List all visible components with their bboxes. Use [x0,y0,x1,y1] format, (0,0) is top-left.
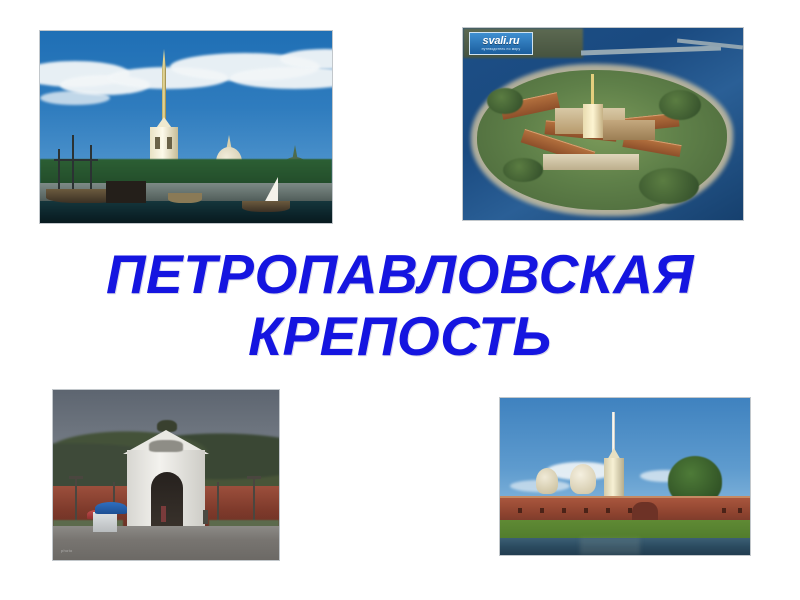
image-fortress-walls-from-water[interactable] [500,398,750,555]
wall-embrasure [606,508,610,513]
cloud-shape [40,91,110,105]
lamp-arm [69,476,83,479]
wall-embrasure [584,508,588,513]
watermark-label: svali.ru [483,36,520,47]
eagle-sculpture [157,420,177,432]
image-inner: svali.ru путеводитель по миру [463,28,743,220]
paved-road-layer [53,526,279,560]
gate-archway [151,472,183,532]
tree-cluster [639,168,699,204]
person-figure [161,506,166,522]
ship-mast [72,135,74,191]
image-peters-gate[interactable]: photo [53,390,279,560]
lamp-post [217,482,219,524]
side-dome-middle [570,464,596,494]
wall-embrasure [540,508,544,513]
wall-embrasure [518,508,522,513]
inner-buildings [603,120,655,140]
image-inner: photo [53,390,279,560]
slide-canvas: svali.ru путеводитель по миру ПЕТРОПАВЛО… [0,0,800,600]
ship-yard [54,159,98,161]
ship-mast [58,149,60,191]
wall-embrasure [562,508,566,513]
slide-title: ПЕТРОПАВЛОВСКАЯ КРЕПОСТЬ [0,243,800,367]
person-figure [203,510,208,524]
photo-credit: photo [61,548,73,553]
image-inner [500,398,750,555]
lamp-arm [247,476,261,479]
gate-relief [149,440,183,452]
tree-cluster [487,88,523,114]
tree-cluster [659,90,701,120]
small-boat [168,193,202,203]
ship-mast [90,145,92,191]
sailboat-hull [242,201,290,212]
watermark-subtitle: путеводитель по миру [482,47,521,52]
mint-buildings [543,154,639,170]
tree-cluster [503,158,543,182]
souvenir-kiosk [93,512,117,532]
cathedral-building [583,104,603,138]
water-reflection [580,538,640,555]
image-peter-and-paul-fortress-from-neva[interactable] [40,31,332,223]
image-inner [40,31,332,223]
side-dome-left [536,468,558,494]
lamp-post [253,478,255,524]
svali-ru-watermark: svali.ru путеводитель по миру [469,32,533,55]
image-fortress-aerial-view[interactable]: svali.ru путеводитель по миру [463,28,743,220]
kiosk-umbrella-blue [95,502,127,514]
dark-barge [106,181,146,203]
lamp-post [75,478,77,524]
wall-embrasure [722,508,726,513]
wall-embrasure [738,508,742,513]
